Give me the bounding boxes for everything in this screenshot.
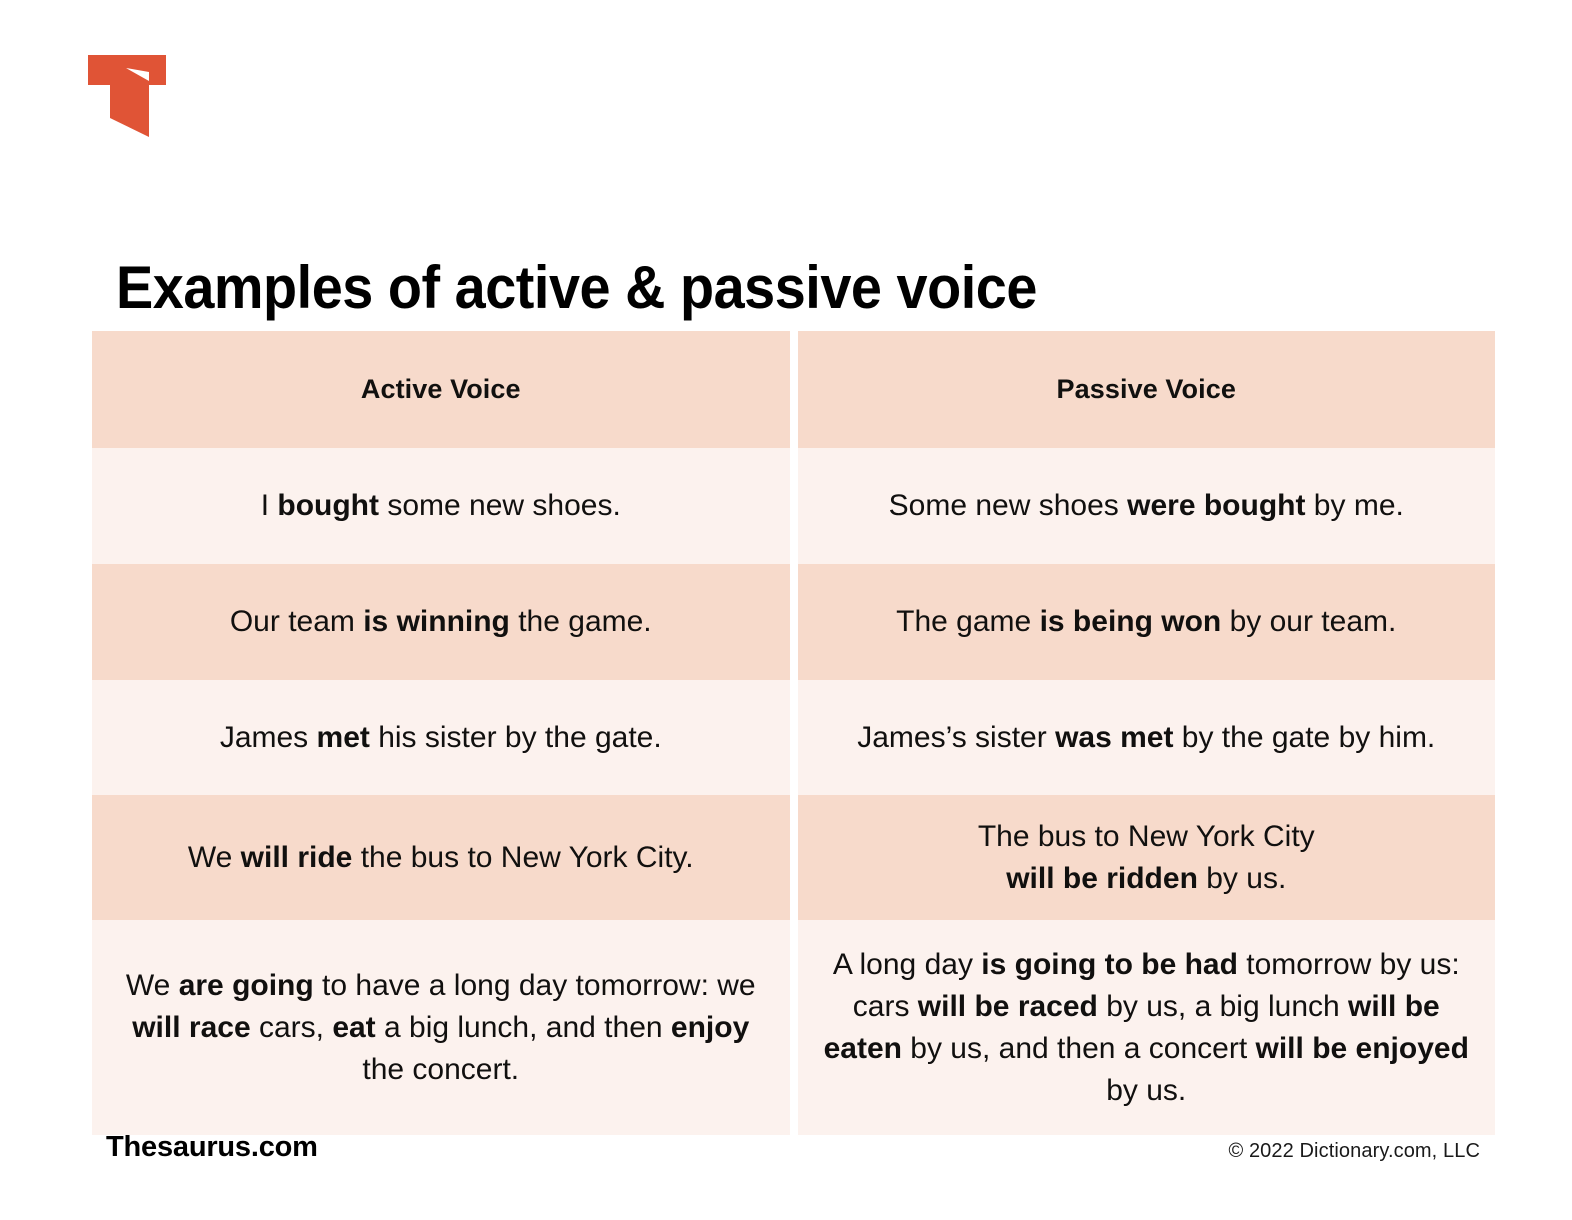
table-row: I bought some new shoes. Some new shoes … xyxy=(92,448,1495,564)
table-row: James met his sister by the gate. James’… xyxy=(92,680,1495,795)
cell-passive-2: The game is being won by our team. xyxy=(798,564,1496,680)
cell-active-5: We are going to have a long day tomorrow… xyxy=(92,920,790,1135)
cell-active-1: I bought some new shoes. xyxy=(92,448,790,564)
infographic-page: Examples of active & passive voice Activ… xyxy=(0,0,1572,1220)
cell-passive-3: James’s sister was met by the gate by hi… xyxy=(798,680,1496,795)
thesaurus-t-logo-icon xyxy=(88,55,166,137)
cell-passive-1: Some new shoes were bought by me. xyxy=(798,448,1496,564)
column-header-active-voice: Active Voice xyxy=(92,331,790,448)
table-row: We are going to have a long day tomorrow… xyxy=(92,920,1495,1135)
cell-passive-5: A long day is going to be had tomorrow b… xyxy=(798,920,1496,1135)
table-header-row: Active Voice Passive Voice xyxy=(92,331,1495,448)
cell-active-3: James met his sister by the gate. xyxy=(92,680,790,795)
cell-passive-4: The bus to New York Citywill be ridden b… xyxy=(798,795,1496,920)
footer-brand-name[interactable]: Thesaurus.com xyxy=(106,1131,318,1164)
column-header-passive-voice: Passive Voice xyxy=(798,331,1496,448)
footer-copyright: © 2022 Dictionary.com, LLC xyxy=(1228,1140,1480,1163)
cell-active-2: Our team is winning the game. xyxy=(92,564,790,680)
table-row: Our team is winning the game. The game i… xyxy=(92,564,1495,680)
active-passive-voice-table: Active Voice Passive Voice I bought some… xyxy=(92,331,1495,1135)
cell-active-4: We will ride the bus to New York City. xyxy=(92,795,790,920)
page-title: Examples of active & passive voice xyxy=(116,252,1037,324)
table-row: We will ride the bus to New York City. T… xyxy=(92,795,1495,920)
